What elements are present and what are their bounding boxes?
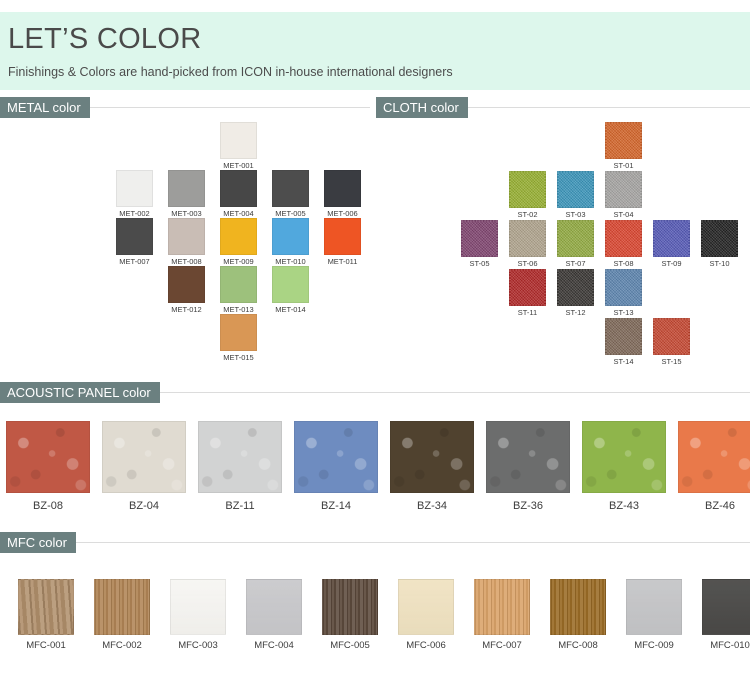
swatch-chip[interactable]: [509, 220, 546, 257]
section-header-acoustic: ACOUSTIC PANEL color: [0, 382, 750, 403]
swatch-code-label: BZ-36: [486, 498, 570, 515]
swatch-code-label: ST-05: [461, 258, 498, 270]
swatch-chip[interactable]: [474, 579, 530, 635]
swatch-code-label: MET-015: [220, 352, 257, 364]
swatch-code-label: ST-12: [557, 307, 594, 319]
color-swatch[interactable]: ST-11: [509, 269, 546, 319]
page-subtitle: Finishings & Colors are hand-picked from…: [8, 64, 750, 81]
swatch-chip[interactable]: [509, 269, 546, 306]
swatch-chip[interactable]: [18, 579, 74, 635]
color-swatch[interactable]: BZ-11: [198, 421, 282, 515]
swatch-chip[interactable]: [116, 218, 153, 255]
swatch-chip[interactable]: [272, 170, 309, 207]
color-swatch[interactable]: MFC-008: [550, 579, 606, 653]
color-swatch[interactable]: MET-014: [272, 266, 309, 316]
swatch-code-label: MFC-010: [702, 638, 750, 653]
color-swatch[interactable]: MET-007: [116, 218, 153, 268]
swatch-chip[interactable]: [605, 122, 642, 159]
swatch-code-label: MET-012: [168, 304, 205, 316]
swatch-code-label: ST-11: [509, 307, 546, 319]
swatch-chip[interactable]: [220, 170, 257, 207]
swatch-code-label: MFC-001: [18, 638, 74, 653]
swatch-code-label: BZ-08: [6, 498, 90, 515]
swatch-chip[interactable]: [168, 266, 205, 303]
swatch-chip[interactable]: [398, 579, 454, 635]
color-swatch[interactable]: MFC-005: [322, 579, 378, 653]
color-swatch[interactable]: MET-006: [324, 170, 361, 220]
color-swatch[interactable]: ST-07: [557, 220, 594, 270]
color-swatch[interactable]: ST-10: [701, 220, 738, 270]
color-swatch[interactable]: BZ-04: [102, 421, 186, 515]
swatch-chip[interactable]: [272, 266, 309, 303]
page-title: LET’S COLOR: [8, 21, 750, 57]
color-swatch[interactable]: MET-013: [220, 266, 257, 316]
swatch-chip[interactable]: [701, 220, 738, 257]
color-swatch[interactable]: ST-04: [605, 171, 642, 221]
color-swatch[interactable]: BZ-08: [6, 421, 90, 515]
swatch-chip[interactable]: [582, 421, 666, 493]
section-rule-mfc: [0, 542, 750, 543]
swatch-code-label: BZ-04: [102, 498, 186, 515]
color-swatch[interactable]: MFC-009: [626, 579, 682, 653]
swatch-chip[interactable]: [220, 314, 257, 351]
section-tag-acoustic: ACOUSTIC PANEL color: [0, 382, 160, 403]
section-tag-mfc: MFC color: [0, 532, 76, 553]
swatch-chip[interactable]: [461, 220, 498, 257]
color-swatch[interactable]: ST-03: [557, 171, 594, 221]
section-tag-cloth: CLOTH color: [376, 97, 468, 118]
swatch-code-label: BZ-46: [678, 498, 750, 515]
swatch-chip[interactable]: [486, 421, 570, 493]
color-swatch[interactable]: MET-011: [324, 218, 361, 268]
swatch-chip[interactable]: [605, 220, 642, 257]
swatch-code-label: MFC-008: [550, 638, 606, 653]
color-swatch[interactable]: MET-008: [168, 218, 205, 268]
section-tag-metal: METAL color: [0, 97, 90, 118]
color-swatch[interactable]: MET-012: [168, 266, 205, 316]
swatch-chip[interactable]: [557, 171, 594, 208]
swatch-code-label: MET-007: [116, 256, 153, 268]
swatch-chip[interactable]: [557, 269, 594, 306]
color-swatch[interactable]: ST-13: [605, 269, 642, 319]
swatch-chip[interactable]: [6, 421, 90, 493]
swatch-chip[interactable]: [170, 579, 226, 635]
swatch-chip[interactable]: [220, 122, 257, 159]
color-swatch[interactable]: MET-009: [220, 218, 257, 268]
swatch-chip[interactable]: [605, 269, 642, 306]
color-swatch[interactable]: MFC-003: [170, 579, 226, 653]
color-swatch[interactable]: MFC-010: [702, 579, 750, 653]
swatch-code-label: ST-15: [653, 356, 690, 368]
section-header-cloth: CLOTH color: [376, 97, 750, 118]
swatch-code-label: MET-011: [324, 256, 361, 268]
color-swatch[interactable]: MET-003: [168, 170, 205, 220]
swatch-code-label: ST-09: [653, 258, 690, 270]
swatch-chip[interactable]: [246, 579, 302, 635]
swatch-code-label: BZ-14: [294, 498, 378, 515]
color-swatch[interactable]: BZ-34: [390, 421, 474, 515]
color-swatch[interactable]: ST-02: [509, 171, 546, 221]
swatch-chip[interactable]: [294, 421, 378, 493]
swatch-chip[interactable]: [322, 579, 378, 635]
swatch-chip[interactable]: [605, 171, 642, 208]
swatch-chip[interactable]: [324, 170, 361, 207]
color-swatch[interactable]: ST-05: [461, 220, 498, 270]
swatch-chip[interactable]: [102, 421, 186, 493]
swatch-chip[interactable]: [168, 170, 205, 207]
color-swatch[interactable]: MFC-006: [398, 579, 454, 653]
color-swatch[interactable]: MET-002: [116, 170, 153, 220]
swatch-code-label: BZ-34: [390, 498, 474, 515]
color-swatch[interactable]: MET-015: [220, 314, 257, 364]
swatch-code-label: MFC-004: [246, 638, 302, 653]
swatch-code-label: BZ-43: [582, 498, 666, 515]
swatch-chip[interactable]: [220, 218, 257, 255]
swatch-chip[interactable]: [116, 170, 153, 207]
swatch-chip[interactable]: [198, 421, 282, 493]
swatch-chip[interactable]: [557, 220, 594, 257]
swatch-chip[interactable]: [653, 318, 690, 355]
color-swatch[interactable]: BZ-14: [294, 421, 378, 515]
swatch-code-label: MFC-003: [170, 638, 226, 653]
color-swatch[interactable]: MFC-001: [18, 579, 74, 653]
color-swatch[interactable]: MET-005: [272, 170, 309, 220]
swatch-code-label: MFC-006: [398, 638, 454, 653]
color-swatch[interactable]: ST-09: [653, 220, 690, 270]
color-swatch[interactable]: MFC-007: [474, 579, 530, 653]
color-swatch[interactable]: BZ-36: [486, 421, 570, 515]
swatch-chip[interactable]: [272, 218, 309, 255]
swatch-chip[interactable]: [168, 218, 205, 255]
color-swatch[interactable]: MFC-002: [94, 579, 150, 653]
color-swatch[interactable]: BZ-43: [582, 421, 666, 515]
swatch-code-label: ST-14: [605, 356, 642, 368]
swatch-chip[interactable]: [220, 266, 257, 303]
color-swatch[interactable]: ST-08: [605, 220, 642, 270]
section-header-mfc: MFC color: [0, 532, 750, 553]
color-swatch[interactable]: ST-12: [557, 269, 594, 319]
swatch-chip[interactable]: [702, 579, 750, 635]
swatch-chip[interactable]: [626, 579, 682, 635]
color-swatch[interactable]: ST-06: [509, 220, 546, 270]
swatch-chip[interactable]: [678, 421, 750, 493]
swatch-chip[interactable]: [605, 318, 642, 355]
swatch-code-label: MFC-005: [322, 638, 378, 653]
swatch-chip[interactable]: [653, 220, 690, 257]
swatch-code-label: MET-014: [272, 304, 309, 316]
swatch-code-label: MFC-007: [474, 638, 530, 653]
color-swatch[interactable]: BZ-46: [678, 421, 750, 515]
color-swatch[interactable]: MET-010: [272, 218, 309, 268]
color-swatch[interactable]: MET-004: [220, 170, 257, 220]
swatch-code-label: ST-10: [701, 258, 738, 270]
swatch-chip[interactable]: [390, 421, 474, 493]
swatch-code-label: MFC-002: [94, 638, 150, 653]
swatch-chip[interactable]: [550, 579, 606, 635]
color-swatch[interactable]: ST-01: [605, 122, 642, 172]
swatch-chip[interactable]: [324, 218, 361, 255]
swatch-code-label: MFC-009: [626, 638, 682, 653]
page-banner: LET’S COLOR Finishings & Colors are hand…: [0, 12, 750, 90]
swatch-code-label: BZ-11: [198, 498, 282, 515]
swatch-chip[interactable]: [509, 171, 546, 208]
section-header-metal: METAL color: [0, 97, 370, 118]
color-swatch[interactable]: MFC-004: [246, 579, 302, 653]
color-swatch[interactable]: ST-15: [653, 318, 690, 368]
swatch-chip[interactable]: [94, 579, 150, 635]
color-swatch[interactable]: ST-14: [605, 318, 642, 368]
color-swatch[interactable]: MET-001: [220, 122, 257, 172]
